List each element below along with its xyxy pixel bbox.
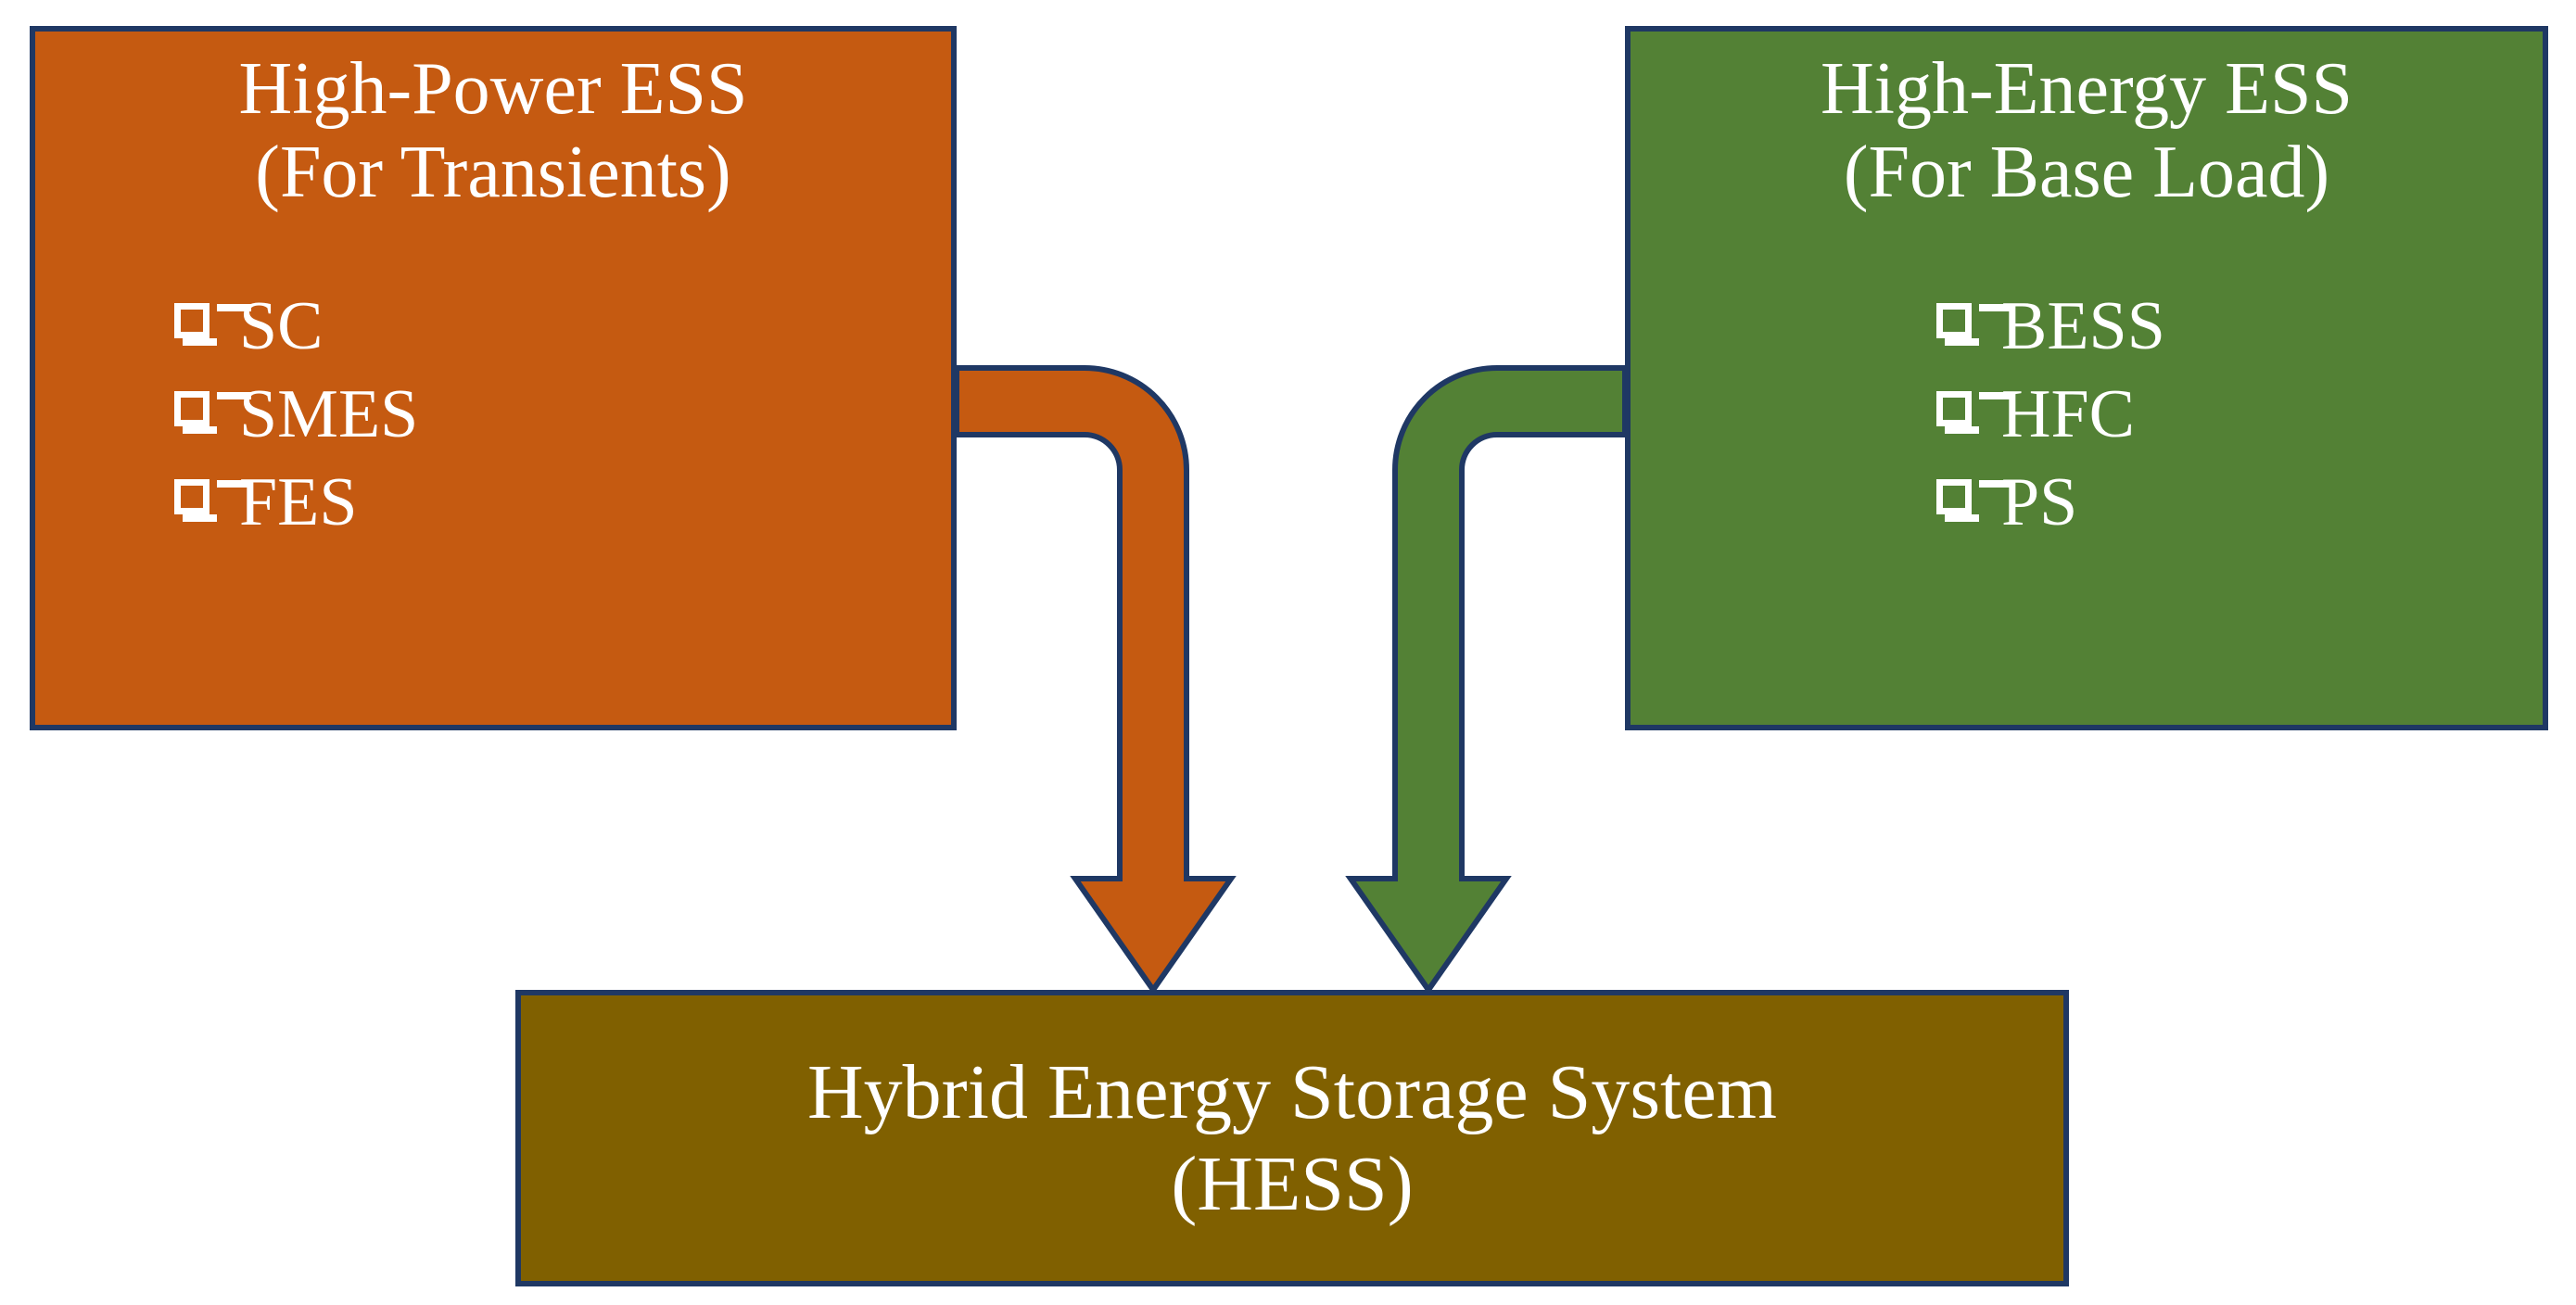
high-power-ess-item-list: SC SMES FES bbox=[35, 283, 951, 546]
checkbox-icon bbox=[174, 391, 217, 434]
diagram-canvas: High-Power ESS (For Transients) SC SMES … bbox=[0, 0, 2576, 1305]
node-hybrid-energy-storage-system[interactable]: Hybrid Energy Storage System (HESS) bbox=[515, 990, 2069, 1286]
checkbox-icon bbox=[174, 479, 217, 522]
high-power-to-hess-arrow bbox=[957, 368, 1231, 990]
list-item[interactable]: FES bbox=[174, 459, 951, 547]
node-hess-title: Hybrid Energy Storage System (HESS) bbox=[807, 1046, 1777, 1230]
checkbox-icon bbox=[1936, 303, 1979, 346]
node-high-power-ess[interactable]: High-Power ESS (For Transients) SC SMES … bbox=[30, 26, 957, 730]
list-item-label: SC bbox=[239, 283, 324, 371]
list-item[interactable]: PS bbox=[1936, 459, 2543, 547]
list-item[interactable]: BESS bbox=[1936, 283, 2543, 371]
list-item-label: PS bbox=[2001, 459, 2077, 547]
list-item-label: FES bbox=[239, 459, 358, 547]
list-item[interactable]: SMES bbox=[174, 371, 951, 459]
node-high-energy-ess[interactable]: High-Energy ESS (For Base Load) BESS HFC… bbox=[1625, 26, 2548, 730]
list-item-label: HFC bbox=[2001, 371, 2135, 459]
high-energy-to-hess-arrow bbox=[1351, 368, 1625, 990]
list-item[interactable]: HFC bbox=[1936, 371, 2543, 459]
high-energy-ess-item-list: BESS HFC PS bbox=[1631, 283, 2543, 546]
checkbox-icon bbox=[174, 303, 217, 346]
node-high-energy-ess-title: High-Energy ESS (For Base Load) bbox=[1631, 32, 2543, 214]
list-item[interactable]: SC bbox=[174, 283, 951, 371]
checkbox-icon bbox=[1936, 391, 1979, 434]
node-high-power-ess-title: High-Power ESS (For Transients) bbox=[35, 32, 951, 214]
checkbox-icon bbox=[1936, 479, 1979, 522]
list-item-label: BESS bbox=[2001, 283, 2165, 371]
list-item-label: SMES bbox=[239, 371, 418, 459]
